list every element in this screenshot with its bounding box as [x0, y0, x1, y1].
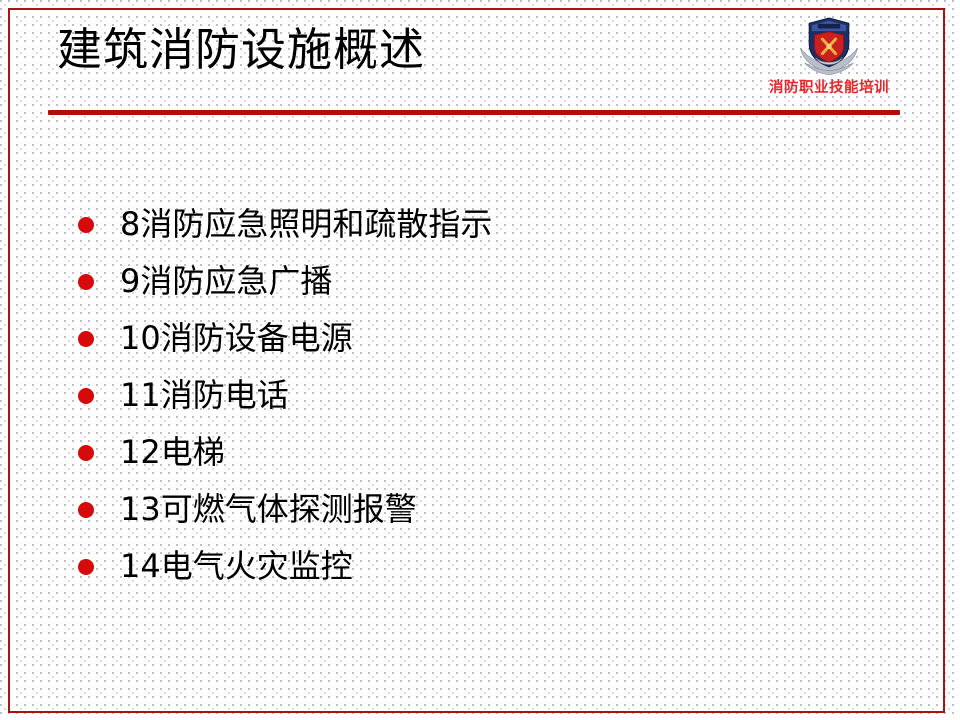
- logo-block: 消防职业技能培训: [748, 14, 910, 104]
- list-item: 14电气火灾监控: [78, 538, 878, 595]
- list-item: 13可燃气体探测报警: [78, 481, 878, 538]
- bullet-dot-icon: [78, 274, 94, 290]
- list-item: 10消防设备电源: [78, 310, 878, 367]
- list-item: 8消防应急照明和疏散指示: [78, 196, 878, 253]
- list-item-label: 8消防应急照明和疏散指示: [120, 207, 492, 242]
- badge-banner: [818, 24, 840, 29]
- bullet-dot-icon: [78, 502, 94, 518]
- bullet-list: 8消防应急照明和疏散指示 9消防应急广播 10消防设备电源 11消防电话 12电…: [78, 196, 878, 595]
- list-item: 11消防电话: [78, 367, 878, 424]
- bullet-dot-icon: [78, 217, 94, 233]
- list-item-label: 12电梯: [120, 435, 225, 470]
- bullet-dot-icon: [78, 388, 94, 404]
- logo-caption: 消防职业技能培训: [748, 76, 910, 97]
- bullet-dot-icon: [78, 331, 94, 347]
- list-item-label: 14电气火灾监控: [120, 549, 353, 584]
- list-item: 9消防应急广播: [78, 253, 878, 310]
- bullet-dot-icon: [78, 445, 94, 461]
- list-item-label: 11消防电话: [120, 378, 289, 413]
- title-divider-rule: [48, 110, 900, 115]
- slide-canvas: 建筑消防设施概述 消防职业技能培训: [0, 0, 960, 720]
- page-title: 建筑消防设施概述: [57, 26, 425, 73]
- fire-service-badge-icon: [796, 14, 862, 80]
- list-item-label: 9消防应急广播: [120, 264, 332, 299]
- list-item: 12电梯: [78, 424, 878, 481]
- badge-emblem-center: [826, 44, 831, 49]
- bullet-dot-icon: [78, 559, 94, 575]
- list-item-label: 13可燃气体探测报警: [120, 492, 417, 527]
- list-item-label: 10消防设备电源: [120, 321, 353, 356]
